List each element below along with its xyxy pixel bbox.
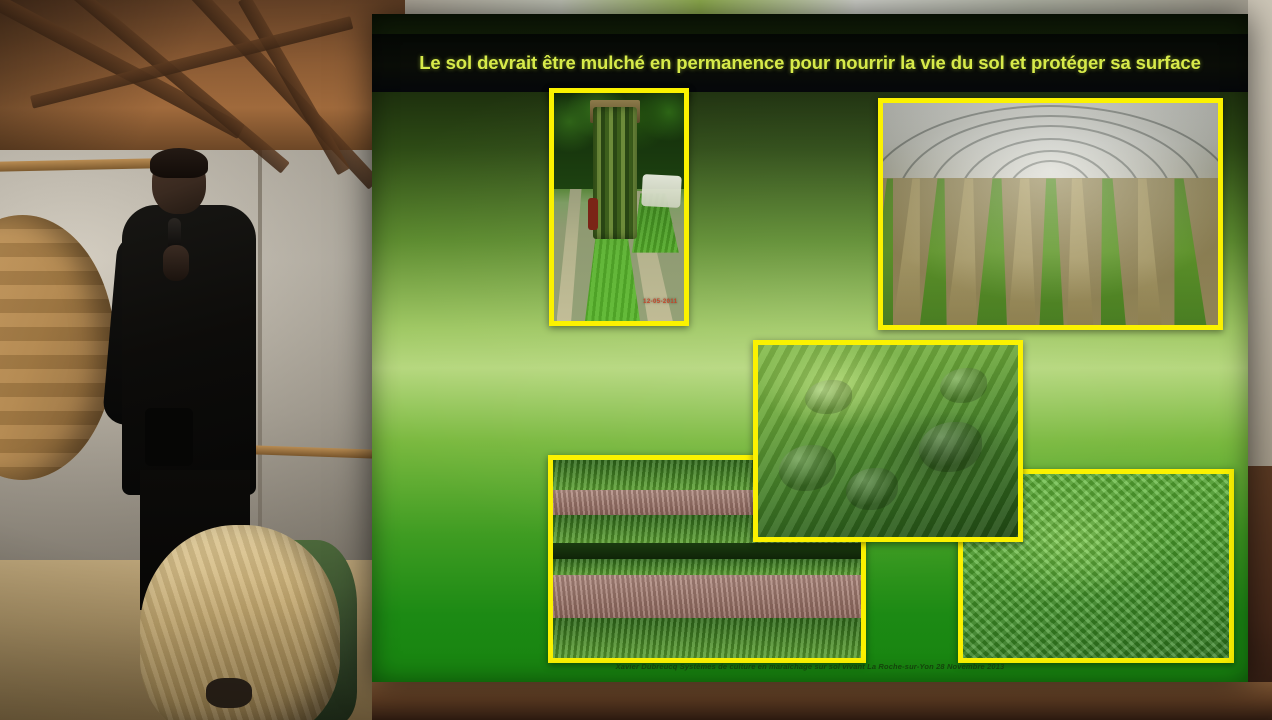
ceiling-beam <box>0 0 245 139</box>
crop-row <box>920 178 947 325</box>
screenshot-stage: Le sol devrait être mulché en permanence… <box>0 0 1272 720</box>
audience-hair-tie <box>206 678 252 708</box>
slide-footer-text: Xavier Dubreucq Systèmes de culture en m… <box>616 662 1005 671</box>
fleece-cover <box>642 174 683 208</box>
transplanter <box>593 107 637 239</box>
photo-content <box>758 345 1018 537</box>
straw-mulch-strip <box>1007 178 1037 325</box>
leaf <box>846 468 898 510</box>
crop-row <box>1174 178 1218 325</box>
photo-polytunnel-straw-mulch <box>878 98 1223 330</box>
shadow-furrow <box>553 543 861 559</box>
mulched-crop-rows <box>883 178 1218 325</box>
straw-mulch-strip <box>1138 178 1178 325</box>
photo-transplanting-machine: 12-05-2011 <box>549 88 689 326</box>
photo-content <box>883 103 1218 325</box>
leaf <box>919 422 981 472</box>
slide-title: Le sol devrait être mulché en permanence… <box>419 52 1201 74</box>
ceiling <box>0 0 405 150</box>
right-wall <box>1248 0 1272 466</box>
crop-row <box>553 559 861 575</box>
upper-wall-strip <box>405 0 1272 14</box>
woodchip-mulch-band <box>553 575 861 619</box>
crop-row <box>977 178 1007 325</box>
crop-row <box>1037 178 1067 325</box>
leaf <box>805 380 852 415</box>
straw-mulch-strip <box>1067 178 1101 325</box>
lower-floor <box>372 682 1272 720</box>
photo-leafy-canopy <box>753 340 1023 542</box>
speaker-hair <box>150 148 208 178</box>
slide-footer: Xavier Dubreucq Systèmes de culture en m… <box>372 656 1248 674</box>
photo-content: 12-05-2011 <box>554 93 684 321</box>
crop-row <box>1101 178 1138 325</box>
projected-slide: Le sol devrait être mulché en permanence… <box>372 14 1248 682</box>
straw-mulch-strip <box>893 178 920 325</box>
slide-title-band: Le sol devrait être mulché en permanence… <box>372 34 1248 92</box>
leaf <box>779 445 836 491</box>
leaf <box>940 368 987 403</box>
machine-wheel <box>588 198 598 230</box>
speaker-hand <box>163 245 189 281</box>
crop-row <box>883 178 893 325</box>
crop-row <box>553 618 861 658</box>
straw-mulch-strip <box>947 178 977 325</box>
speaker-hand <box>145 408 193 466</box>
photo-date-stamp: 12-05-2011 <box>643 299 677 305</box>
